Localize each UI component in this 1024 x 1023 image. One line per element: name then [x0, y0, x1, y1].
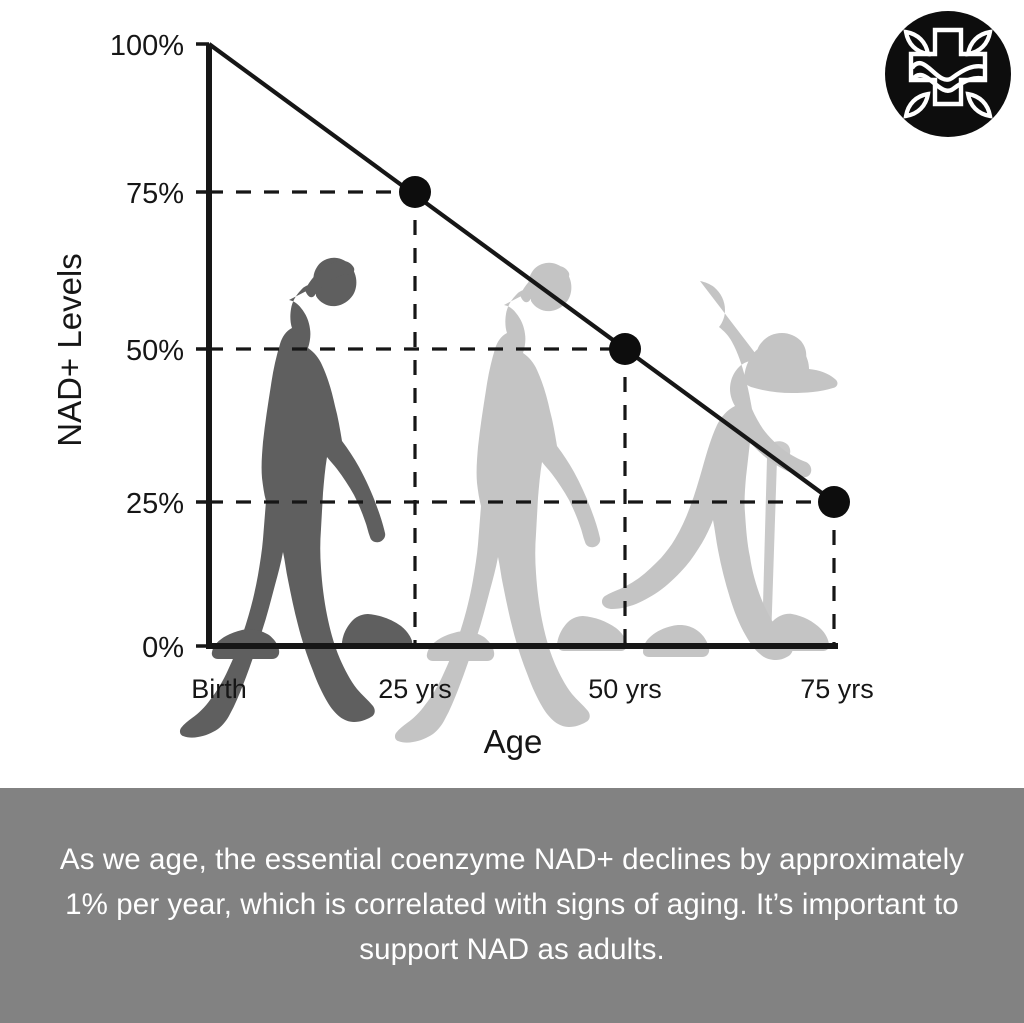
- y-tick-label-75: 75%: [126, 178, 184, 210]
- nad-decline-infographic: 100% 75% 50% 25% 0% Birth 25 yrs 50 yrs …: [0, 0, 1024, 1023]
- data-point-75yrs: [818, 486, 850, 518]
- x-tick-label-50yrs: 50 yrs: [588, 674, 662, 704]
- y-axis-title: NAD+ Levels: [51, 253, 88, 447]
- caption-band: As we age, the essential coenzyme NAD+ d…: [0, 788, 1024, 1023]
- chart-panel: 100% 75% 50% 25% 0% Birth 25 yrs 50 yrs …: [0, 0, 1024, 788]
- data-point-25yrs: [399, 176, 431, 208]
- silhouette-middle-aged: [395, 263, 627, 743]
- x-tick-label-75yrs: 75 yrs: [800, 674, 874, 704]
- y-tick-label-25: 25%: [126, 488, 184, 520]
- data-point-50yrs: [609, 333, 641, 365]
- medical-cross-leaves-logo[interactable]: [878, 4, 1018, 144]
- x-tick-label-25yrs: 25 yrs: [378, 674, 452, 704]
- y-tick-label-100: 100%: [110, 30, 184, 62]
- x-tick-label-birth: Birth: [191, 674, 247, 704]
- caption-text: As we age, the essential coenzyme NAD+ d…: [58, 838, 966, 972]
- x-axis-title: Age: [484, 723, 543, 760]
- y-tick-label-0: 0%: [142, 632, 184, 664]
- nad-levels-line-chart: 100% 75% 50% 25% 0% Birth 25 yrs 50 yrs …: [0, 0, 1024, 788]
- silhouette-young-adult: [180, 258, 412, 738]
- y-axis-tick-labels: 100% 75% 50% 25% 0%: [110, 30, 184, 664]
- silhouette-elderly-with-cane: [602, 281, 838, 660]
- y-tick-label-50: 50%: [126, 335, 184, 367]
